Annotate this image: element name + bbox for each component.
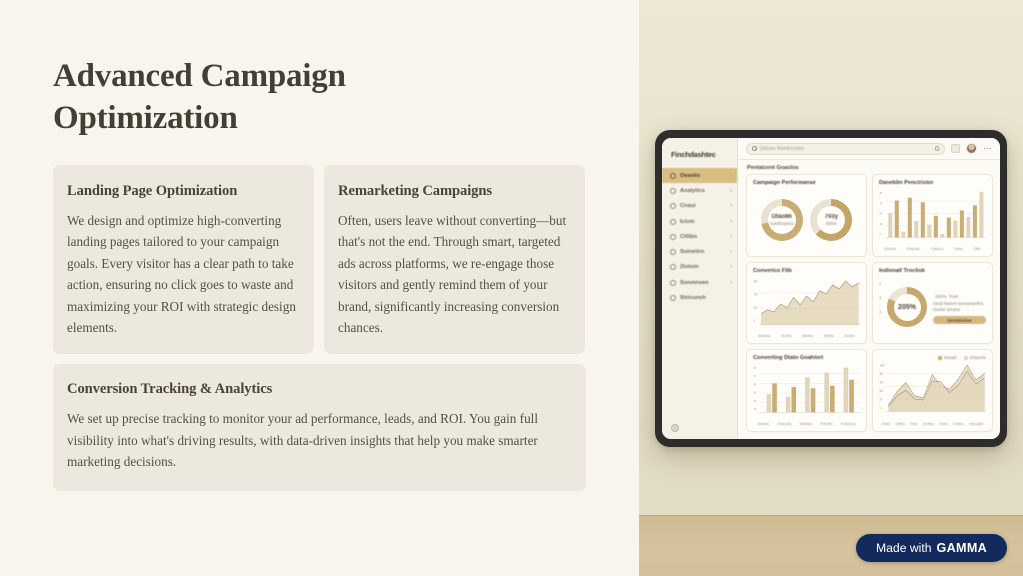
panel-title: Converico Flib bbox=[753, 268, 860, 274]
chart-legend: NesainDrtaonte bbox=[879, 355, 986, 360]
axis-tick-label: Oetu bbox=[939, 421, 948, 426]
sidebar-item-sonmnsen[interactable]: Sonmnsen › bbox=[662, 275, 737, 290]
search-submit-icon[interactable] bbox=[935, 146, 940, 151]
svg-text:80: 80 bbox=[754, 366, 757, 371]
svg-text:25: 25 bbox=[880, 222, 883, 227]
sidebar-footer-avatar[interactable] bbox=[671, 424, 679, 432]
gauge-row: 205% 100%Trart Oiedi haocrri socisonanlf… bbox=[879, 277, 986, 339]
axis-tick-label: Onlu bbox=[882, 421, 890, 426]
donut-chart-2: 703y 500m bbox=[810, 199, 852, 241]
sidebar-item-label: Oeanlis bbox=[680, 173, 726, 179]
gauge-headline-suffix: Trart bbox=[949, 294, 959, 299]
gauge-headline: 100%Trart bbox=[933, 291, 986, 300]
dashboard-logo: Finchdashtec bbox=[662, 144, 737, 168]
feature-card-remarketing: Remarketing Campaigns Often, users leave… bbox=[324, 165, 585, 354]
panel-body: 807060503010 bbox=[753, 364, 860, 420]
search-icon bbox=[752, 146, 757, 151]
page-title: Advanced Campaign Optimization bbox=[53, 55, 473, 139]
axis-tick-label: Potcitu bbox=[820, 421, 832, 426]
svg-text:1000: 1000 bbox=[880, 363, 885, 368]
sidebar-item-label: Analytics bbox=[680, 188, 726, 194]
tablet-screen: Finchdashtec Oeanlis › Analytics › Cnaui bbox=[662, 138, 1000, 439]
donut-label: 500m bbox=[825, 221, 838, 226]
axis-tick-label: Onlhu bbox=[953, 421, 964, 426]
gauge-tick-labels: 243 bbox=[879, 281, 881, 314]
svg-text:50: 50 bbox=[880, 397, 883, 402]
chevron-right-icon: › bbox=[730, 249, 732, 255]
tag-icon bbox=[670, 234, 676, 240]
svg-text:70: 70 bbox=[754, 374, 757, 379]
donut-value: OtaoMi bbox=[770, 214, 794, 220]
donut-chart-1: OtaoMi Sonfiloastce bbox=[761, 199, 803, 241]
svg-text:50: 50 bbox=[754, 391, 757, 396]
sidebar-item-label: Iclom bbox=[680, 219, 726, 225]
chevron-right-icon: › bbox=[730, 188, 732, 194]
sidebar-item-analytics[interactable]: Analytics › bbox=[662, 183, 737, 198]
panel-traffic-trend: NesainDrtaonte 1000850500600500 OnluOdil… bbox=[872, 349, 993, 432]
axis-tick-label: Mtohs bbox=[802, 333, 813, 338]
card-title: Landing Page Optimization bbox=[67, 182, 298, 201]
panel-body: OtaoMi Sonfiloastce 703y 500m bbox=[753, 189, 860, 251]
donut-chart-group: OtaoMi Sonfiloastce 703y 500m bbox=[753, 189, 860, 251]
dashboard-grid: Campaign Performanse OtaoMi Sonfiloastce bbox=[738, 174, 1000, 439]
svg-text:10: 10 bbox=[754, 407, 757, 412]
x-axis-labels: GotctuOotoctuMotctuPotcituKototctu bbox=[753, 420, 860, 426]
sidebar-item-label: Sonmnsen bbox=[680, 280, 726, 286]
axis-tick-label: Kototctu bbox=[841, 421, 856, 426]
svg-text:600: 600 bbox=[880, 389, 884, 394]
svg-text:500: 500 bbox=[880, 380, 884, 385]
search-placeholder: Urbuev Remtconten bbox=[760, 146, 932, 152]
panel-title: Campaign Performanse bbox=[753, 180, 860, 186]
gear-icon bbox=[670, 249, 676, 255]
card-body: We set up precise tracking to monitor yo… bbox=[67, 408, 570, 472]
right-image-pane: Finchdashtec Oeanlis › Analytics › Cnaui bbox=[639, 0, 1023, 576]
card-title: Conversion Tracking & Analytics bbox=[67, 380, 570, 399]
left-content-pane: Advanced Campaign Optimization Landing P… bbox=[0, 0, 639, 576]
svg-text:30: 30 bbox=[754, 399, 757, 404]
axis-tick-label: Odilu bbox=[895, 421, 904, 426]
x-axis-labels: MonduGonluMtohsDistisGosto bbox=[753, 332, 860, 338]
feature-card-conversion-tracking: Conversion Tracking & Analytics We set u… bbox=[53, 364, 586, 490]
sidebar-item-label: Cnaui bbox=[680, 203, 726, 209]
chevron-right-icon: › bbox=[730, 234, 732, 240]
grouped-bar-chart: 807060503010 bbox=[753, 364, 860, 420]
sidebar-item-label: Stricunsh bbox=[680, 295, 732, 301]
donut-value: 703y bbox=[825, 214, 838, 220]
gauge-value: 205% bbox=[898, 304, 916, 311]
svg-text:750: 750 bbox=[754, 292, 758, 297]
sidebar-item-soinetirn[interactable]: Soinetirn › bbox=[662, 244, 737, 259]
sidebar-item-iclom[interactable]: Iclom › bbox=[662, 214, 737, 229]
panel-conversion-flow: Converico Flib 8007503000 MonduGonluMtoh… bbox=[746, 262, 867, 345]
gauge-chart: 205% bbox=[887, 287, 927, 327]
chevron-right-icon: › bbox=[730, 219, 732, 225]
dashboard-topbar: Urbuev Remtconten ⋯ bbox=[738, 138, 1000, 160]
axis-tick-label: Catocu bbox=[931, 246, 944, 251]
x-axis-labels: OnluOdiluToluOnthuOetuOnlhuOonade bbox=[879, 420, 986, 426]
axis-tick-label: Oltu bbox=[973, 246, 980, 251]
svg-text:80: 80 bbox=[880, 191, 883, 196]
svg-text:75: 75 bbox=[880, 201, 883, 206]
sidebar-item-label: 2totom bbox=[680, 264, 726, 270]
slide-root: Advanced Campaign Optimization Landing P… bbox=[0, 0, 1023, 576]
panel-title: Daneblin Penciristor bbox=[879, 180, 986, 186]
calendar-icon bbox=[670, 264, 676, 270]
link-icon bbox=[670, 280, 676, 286]
legend-entry: Nesain bbox=[938, 355, 957, 360]
dashboard-icon bbox=[670, 173, 676, 179]
card-body: We design and optimize high-converting l… bbox=[67, 210, 298, 338]
axis-tick-label: Oonade bbox=[969, 421, 983, 426]
area-chart: 8007503000 bbox=[753, 277, 860, 333]
made-with-gamma-badge[interactable]: Made with GAMMA bbox=[856, 534, 1007, 562]
sidebar-item-cnaui[interactable]: Cnaui › bbox=[662, 199, 737, 214]
badge-brand: GAMMA bbox=[937, 541, 987, 555]
chevron-right-icon: › bbox=[730, 203, 732, 209]
chevron-right-icon: › bbox=[730, 264, 732, 270]
donut-text: OtaoMi Sonfiloastce bbox=[770, 214, 794, 226]
badge-prefix: Made with bbox=[876, 541, 932, 555]
axis-tick-label: Onthu bbox=[923, 421, 934, 426]
axis-tick-label: Potyotu bbox=[907, 246, 921, 251]
panel-revenue-tracker: Indionall Trocliok 243 205% 100% bbox=[872, 262, 993, 345]
dashboard-sidebar: Finchdashtec Oeanlis › Analytics › Cnaui bbox=[662, 138, 738, 439]
dashboard-main: Urbuev Remtconten ⋯ Pentaizent Goaslos C… bbox=[738, 138, 1000, 439]
legend-entry: Drtaonte bbox=[964, 355, 986, 360]
analytics-icon bbox=[670, 188, 676, 194]
svg-text:50: 50 bbox=[880, 211, 883, 216]
axis-tick-label: Tolu bbox=[910, 421, 917, 426]
feature-card-landing-page: Landing Page Optimization We design and … bbox=[53, 165, 314, 354]
axis-tick-label: Gotu bbox=[954, 246, 963, 251]
panel-body: 807550255 bbox=[879, 189, 986, 245]
panel-conversion-breakdown: Daneblin Penciristor 807550255 DototuPot… bbox=[872, 174, 993, 257]
people-icon bbox=[670, 219, 676, 225]
panel-body: 1000850500600500 bbox=[879, 361, 986, 420]
more-options-icon[interactable]: ⋯ bbox=[983, 147, 992, 151]
axis-tick-label: Gosto bbox=[844, 333, 855, 338]
sidebar-item-cillibn[interactable]: Cillibn › bbox=[662, 229, 737, 244]
feature-card-row: Landing Page Optimization We design and … bbox=[53, 165, 586, 354]
gauge-headline-value: 100% bbox=[935, 294, 947, 299]
sidebar-item-stricunsh[interactable]: Stricunsh bbox=[662, 290, 737, 305]
chevron-right-icon: › bbox=[730, 280, 732, 286]
svg-text:0: 0 bbox=[754, 318, 756, 323]
svg-text:0: 0 bbox=[880, 406, 882, 411]
axis-tick-label: Gotctu bbox=[757, 421, 769, 426]
dual-area-chart: 1000850500600500 bbox=[879, 361, 986, 420]
archive-icon bbox=[670, 295, 676, 301]
panel-title: Converting Dtato Goahiort bbox=[753, 355, 860, 361]
panel-title: Indionall Trocliok bbox=[879, 268, 986, 274]
sidebar-item-label: Cillibn bbox=[680, 234, 726, 240]
sidebar-item-label: Soinetirn bbox=[680, 249, 726, 255]
gauge-tick: 4 bbox=[879, 295, 881, 300]
axis-tick-label: Distis bbox=[824, 333, 834, 338]
sidebar-item-oeanlis[interactable]: Oeanlis › bbox=[662, 168, 737, 183]
card-title: Remarketing Campaigns bbox=[338, 182, 569, 201]
breadcrumb: Pentaizent Goaslos bbox=[738, 160, 1000, 174]
tablet-device: Finchdashtec Oeanlis › Analytics › Cnaui bbox=[655, 130, 1007, 447]
gauge-action-button[interactable]: Deotatiotion bbox=[933, 316, 986, 324]
donut-label: Sonfiloastce bbox=[770, 221, 794, 226]
svg-text:5: 5 bbox=[880, 232, 882, 237]
donut-text: 703y 500m bbox=[825, 214, 838, 226]
axis-tick-label: Motctu bbox=[800, 421, 812, 426]
gauge-subtext: Oiedi haocrri socisonanlfos Oonlor loria… bbox=[933, 301, 986, 313]
panel-body: 243 205% 100%Trart Oie bbox=[879, 277, 986, 339]
panel-body: 8007503000 bbox=[753, 277, 860, 333]
svg-text:300: 300 bbox=[754, 305, 758, 310]
svg-text:800: 800 bbox=[754, 279, 758, 284]
chevron-right-icon: › bbox=[730, 173, 732, 179]
gauge-tick: 3 bbox=[879, 309, 881, 314]
bar-chart: 807550255 bbox=[879, 189, 986, 245]
notification-icon[interactable] bbox=[951, 144, 960, 153]
user-icon bbox=[670, 203, 676, 209]
panel-campaign-performance: Campaign Performanse OtaoMi Sonfiloastce bbox=[746, 174, 867, 257]
card-body: Often, users leave without converting—bu… bbox=[338, 210, 569, 338]
axis-tick-label: Gonlu bbox=[781, 333, 792, 338]
avatar[interactable] bbox=[966, 143, 977, 154]
axis-tick-label: Mondu bbox=[758, 333, 770, 338]
gauge-tick: 2 bbox=[879, 281, 881, 286]
sidebar-item-2totom[interactable]: 2totom › bbox=[662, 260, 737, 275]
search-input[interactable]: Urbuev Remtconten bbox=[746, 143, 945, 155]
gauge-info: 100%Trart Oiedi haocrri socisonanlfos Oo… bbox=[933, 291, 986, 325]
axis-tick-label: Dototu bbox=[884, 246, 896, 251]
axis-tick-label: Ootoctu bbox=[777, 421, 791, 426]
svg-text:850: 850 bbox=[880, 372, 884, 377]
svg-text:60: 60 bbox=[754, 382, 757, 387]
panel-converting-data: Converting Dtato Goahiort 807060503010 G… bbox=[746, 349, 867, 432]
x-axis-labels: DototuPotyotuCatocuGotuOltu bbox=[879, 245, 986, 251]
